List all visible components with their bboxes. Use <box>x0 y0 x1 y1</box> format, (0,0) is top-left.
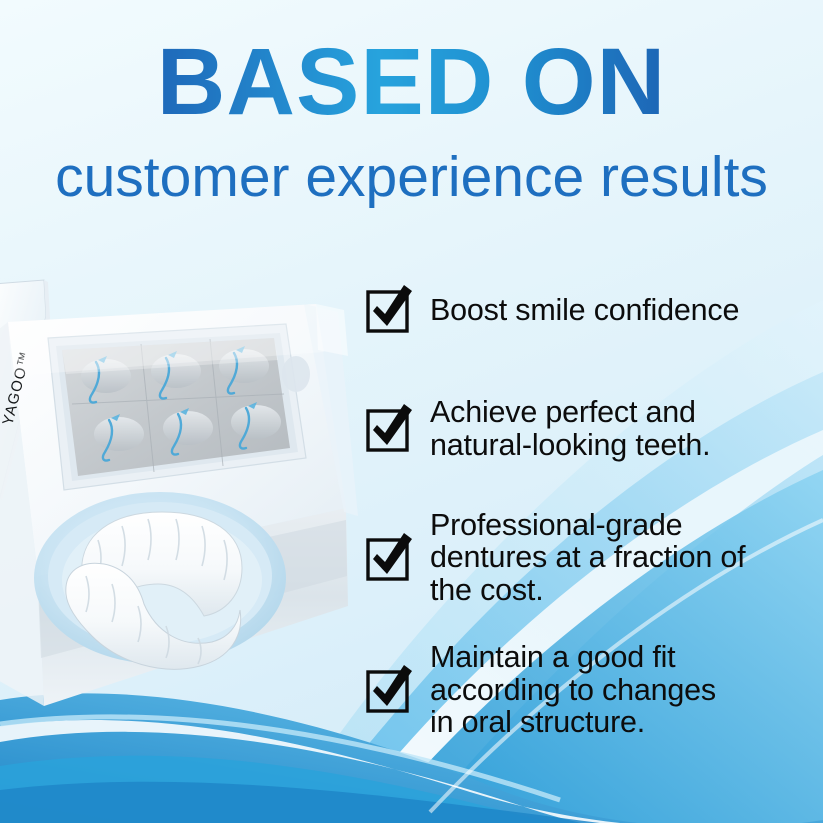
headline-block: BASED ON <box>0 34 823 131</box>
list-item-text: Achieve perfect and natural-looking teet… <box>430 396 710 461</box>
list-item-line: dentures at a fraction of <box>430 541 745 574</box>
list-item-line: Professional-grade <box>430 509 745 542</box>
list-item-text: Maintain a good fit according to changes… <box>430 641 716 739</box>
list-item: Achieve perfect and natural-looking teet… <box>366 368 818 490</box>
list-item-text: Professional-grade dentures at a fractio… <box>430 509 745 607</box>
list-item-line: Boost smile confidence <box>430 294 739 327</box>
list-item: Boost smile confidence <box>366 252 818 368</box>
list-item-line: Maintain a good fit <box>430 641 716 674</box>
list-item-line: according to changes <box>430 674 716 707</box>
list-item: Maintain a good fit according to changes… <box>366 625 818 755</box>
advertisement-canvas: BASED ON customer experience results <box>0 0 823 823</box>
page-title: BASED ON <box>0 34 823 131</box>
list-item-line: Achieve perfect and <box>430 396 710 429</box>
list-item: Professional-grade dentures at a fractio… <box>366 490 818 625</box>
product-image: YAGOO™ <box>0 276 358 746</box>
list-item-line: in oral structure. <box>430 706 716 739</box>
checkbox-checked-icon <box>366 406 412 452</box>
checkbox-checked-icon <box>366 287 412 333</box>
page-subtitle: customer experience results <box>0 148 823 208</box>
list-item-line: natural-looking teeth. <box>430 429 710 462</box>
checkbox-checked-icon <box>366 535 412 581</box>
list-item-text: Boost smile confidence <box>430 294 739 327</box>
checkbox-checked-icon <box>366 667 412 713</box>
list-item-line: the cost. <box>430 574 745 607</box>
benefits-checklist: Boost smile confidence Achieve perfect a… <box>366 252 818 755</box>
